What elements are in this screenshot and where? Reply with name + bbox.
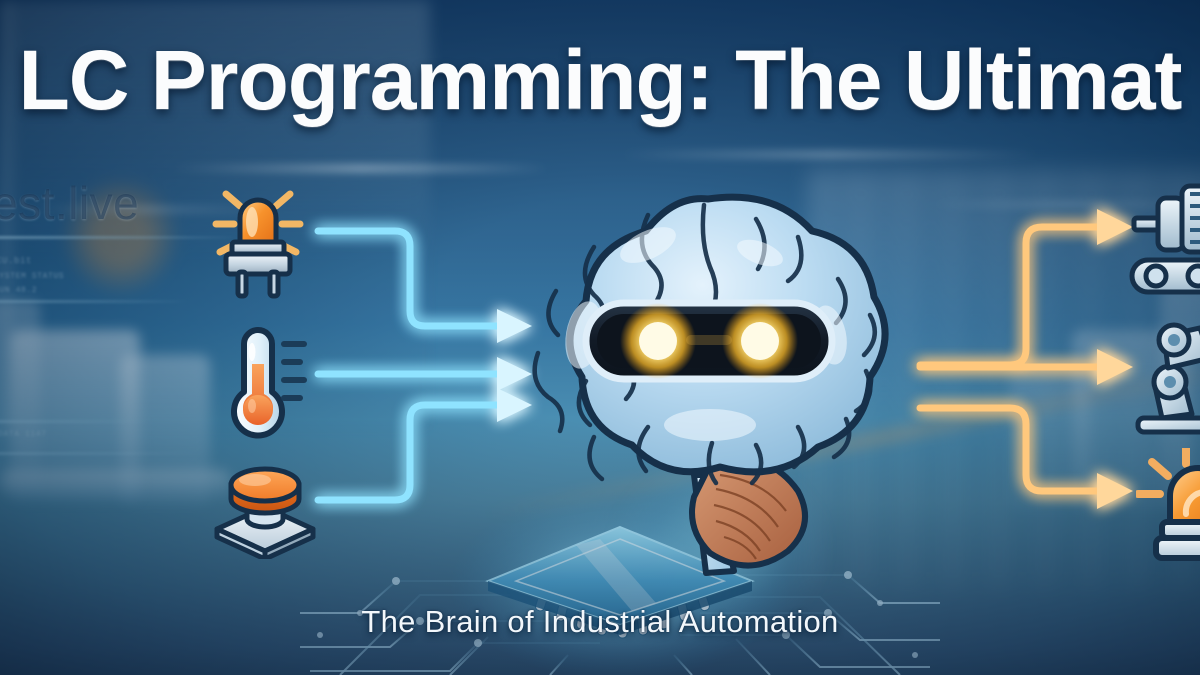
input-arrow-path-3	[318, 405, 500, 500]
thermometer-icon	[216, 322, 320, 442]
output-arrow-head-3	[1097, 473, 1133, 509]
input-arrow-path-1	[318, 231, 500, 326]
arm-base	[1138, 418, 1200, 432]
output-arrow-path-3	[920, 408, 1100, 491]
watermark: nest.live	[0, 176, 139, 230]
output-arrow-group	[920, 209, 1133, 509]
output-arrow-head-2	[1097, 349, 1133, 385]
thermometer-ticks	[284, 344, 304, 398]
conveyor-roller	[1146, 266, 1166, 286]
conveyor-roller	[1188, 266, 1200, 286]
lamp-base	[226, 254, 290, 274]
robot-brain-graphic	[498, 175, 918, 595]
lamp-pin-left	[238, 272, 246, 296]
beacon-base	[1156, 538, 1200, 558]
caption-text: The Brain of Industrial Automation	[0, 604, 1200, 640]
hero-banner: CU.bit SYSTEM STATUS RUN 48.2 DATA 1147	[0, 0, 1200, 675]
robot-visor	[586, 303, 832, 379]
page-title: LC Programming: The Ultimat	[0, 28, 1200, 132]
push-button-icon	[203, 455, 327, 559]
alarm-beacon-icon	[1136, 448, 1200, 566]
robot-arm-icon	[1130, 318, 1200, 436]
lamp-pin-right	[270, 272, 278, 296]
output-arrow-path-1	[920, 227, 1100, 365]
indicator-lamp-icon	[196, 178, 320, 300]
button-cap	[231, 469, 299, 501]
motor-conveyor-icon	[1128, 182, 1200, 300]
